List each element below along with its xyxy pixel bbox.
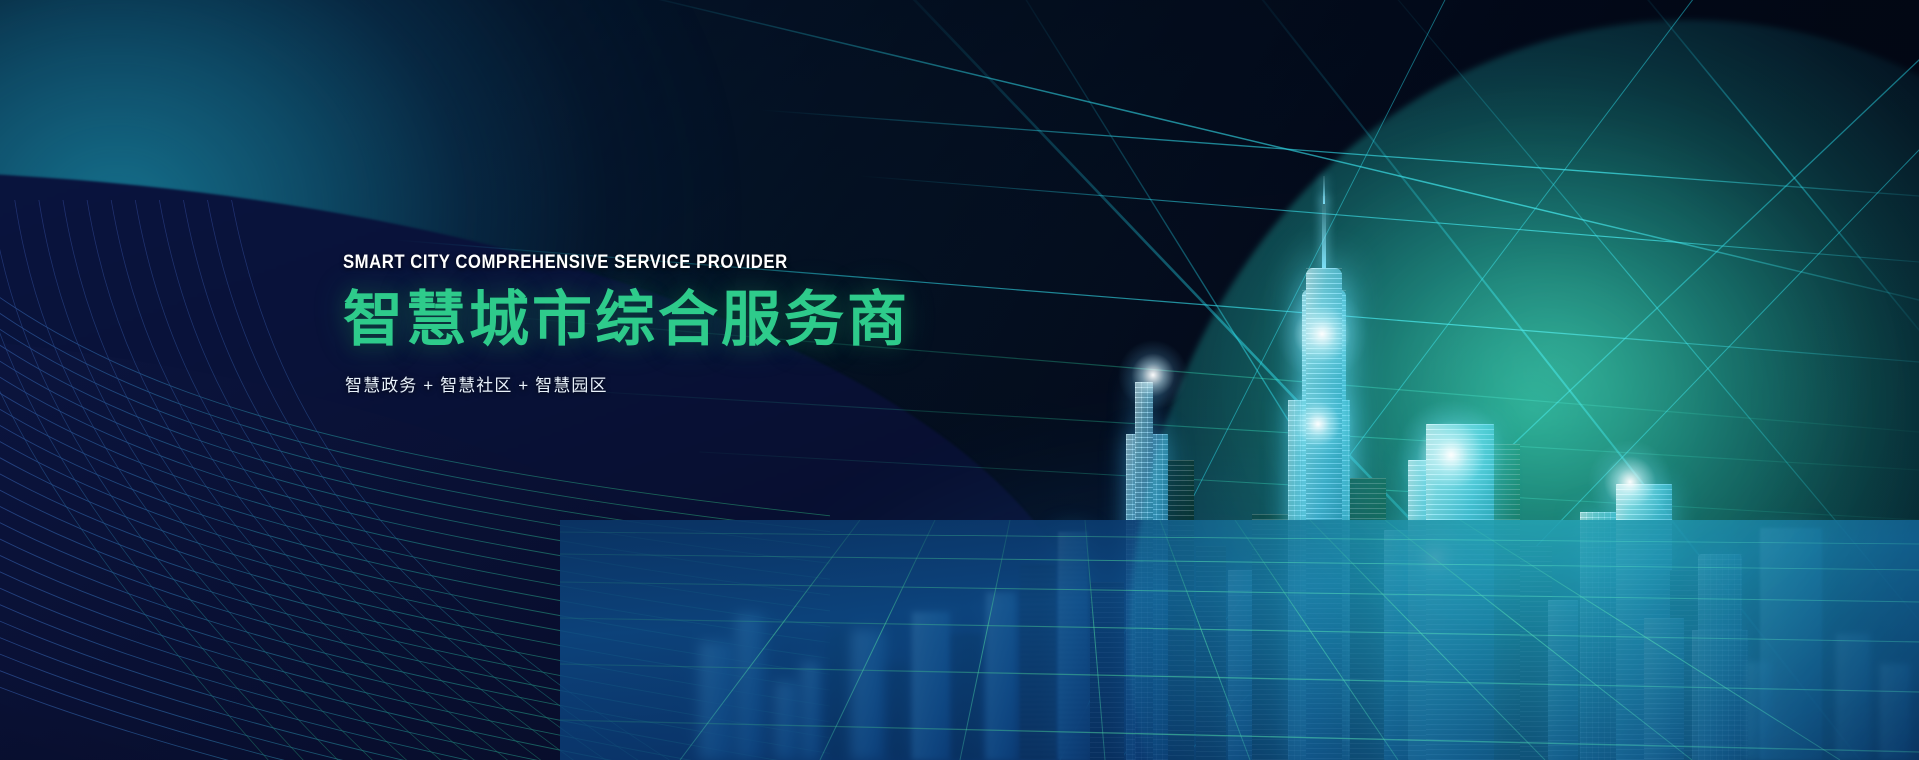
hero-copy-block: SMART CITY COMPREHENSIVE SERVICE PROVIDE… [343, 252, 910, 396]
green-glow-accent [1239, 110, 1879, 630]
eyebrow-text: SMART CITY COMPREHENSIVE SERVICE PROVIDE… [343, 252, 842, 274]
smart-city-hero-banner: SMART CITY COMPREHENSIVE SERVICE PROVIDE… [0, 0, 1919, 760]
tagline-text: 智慧政务 + 智慧社区 + 智慧园区 [345, 371, 910, 396]
page-title: 智慧城市综合服务商 [343, 288, 910, 353]
